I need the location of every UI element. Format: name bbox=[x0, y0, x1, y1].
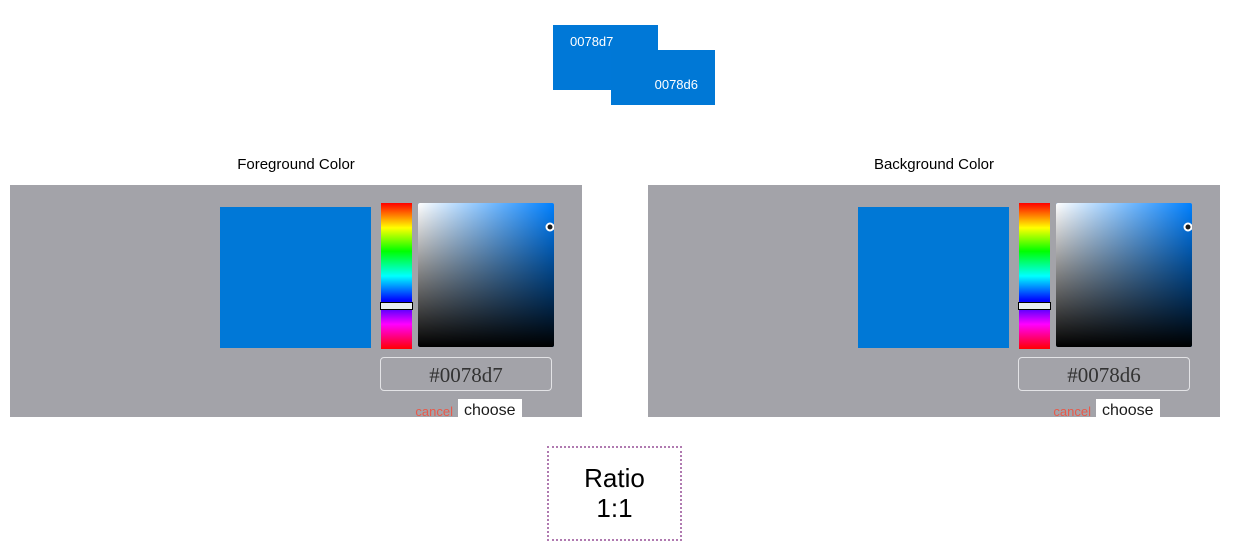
foreground-preview-swatch bbox=[220, 207, 371, 348]
color-swatch-stack: 0078d7 0078d6 bbox=[0, 0, 1246, 130]
foreground-hue-slider-thumb[interactable] bbox=[380, 302, 413, 310]
background-choose-button[interactable]: choose bbox=[1096, 399, 1160, 417]
foreground-cancel-button[interactable]: cancel bbox=[410, 402, 458, 418]
background-sv-black-layer bbox=[1056, 203, 1192, 347]
foreground-color-title: Foreground Color bbox=[10, 156, 582, 173]
ratio-label: Ratio bbox=[584, 464, 645, 493]
background-saturation-value-square[interactable] bbox=[1056, 203, 1192, 347]
background-preview-swatch bbox=[858, 207, 1009, 348]
foreground-swatch-label: 0078d7 bbox=[570, 35, 613, 48]
foreground-hue-slider[interactable] bbox=[381, 203, 412, 349]
background-color-picker-panel: #0078d6 cancelchoose bbox=[648, 185, 1220, 417]
foreground-sv-marker[interactable] bbox=[545, 223, 554, 232]
background-hue-slider[interactable] bbox=[1019, 203, 1050, 349]
ratio-value: 1:1 bbox=[596, 494, 632, 523]
background-swatch: 0078d6 bbox=[611, 50, 715, 105]
background-sv-marker[interactable] bbox=[1183, 223, 1192, 232]
foreground-saturation-value-square[interactable] bbox=[418, 203, 554, 347]
foreground-sv-black-layer bbox=[418, 203, 554, 347]
contrast-ratio-box: Ratio 1:1 bbox=[547, 446, 682, 541]
background-hue-slider-thumb[interactable] bbox=[1018, 302, 1051, 310]
background-cancel-button[interactable]: cancel bbox=[1048, 402, 1096, 418]
foreground-action-row: cancelchoose bbox=[380, 399, 552, 417]
background-hex-input[interactable]: #0078d6 bbox=[1018, 357, 1190, 391]
foreground-hex-input[interactable]: #0078d7 bbox=[380, 357, 552, 391]
foreground-color-picker-panel: #0078d7 cancelchoose bbox=[10, 185, 582, 417]
background-color-title: Background Color bbox=[648, 156, 1220, 173]
background-swatch-label: 0078d6 bbox=[655, 78, 698, 91]
background-action-row: cancelchoose bbox=[1018, 399, 1190, 417]
foreground-choose-button[interactable]: choose bbox=[458, 399, 522, 417]
